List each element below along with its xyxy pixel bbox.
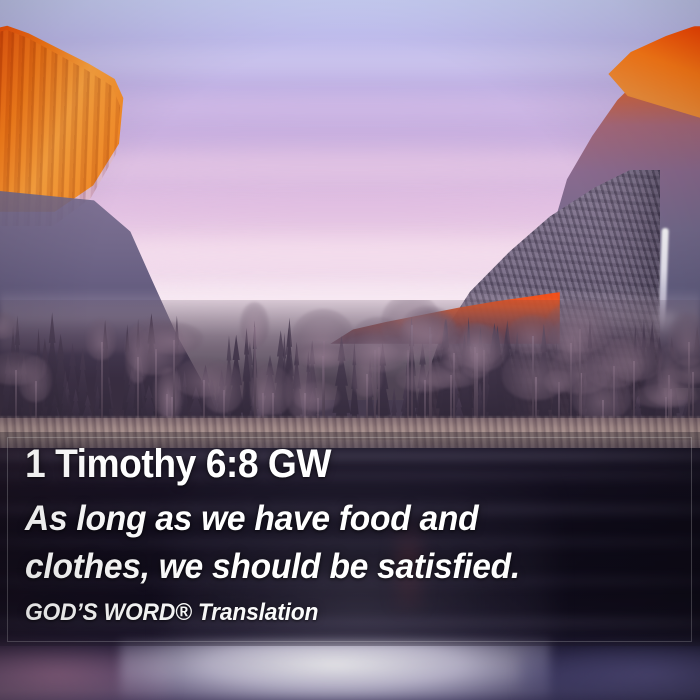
bare-tree-crown: [668, 313, 700, 366]
bare-tree-crown: [251, 366, 292, 415]
bible-verse-image: 1 Timothy 6:8 GW As long as we have food…: [0, 0, 700, 700]
verse-text-line-1: As long as we have food and: [25, 495, 478, 542]
bare-tree-crown: [341, 334, 408, 364]
bare-tree-crown: [142, 322, 203, 354]
bare-tree-crown: [441, 335, 464, 368]
bare-tree-crown: [86, 319, 117, 360]
bare-tree-crown: [240, 302, 269, 347]
verse-reference: 1 Timothy 6:8 GW: [25, 440, 331, 488]
bare-tree-crown: [507, 315, 557, 354]
bare-tree-crown: [396, 365, 452, 393]
bare-tree-crown: [572, 375, 631, 420]
verse-text-line-2: clothes, we should be satisfied.: [25, 543, 520, 590]
water-bright-highlight: [120, 640, 550, 700]
bare-tree-crown: [603, 336, 662, 381]
water-blue-reflection: [520, 644, 700, 700]
bare-tree-crown: [158, 367, 183, 422]
translation-name: GOD’S WORD® Translation: [25, 598, 318, 628]
